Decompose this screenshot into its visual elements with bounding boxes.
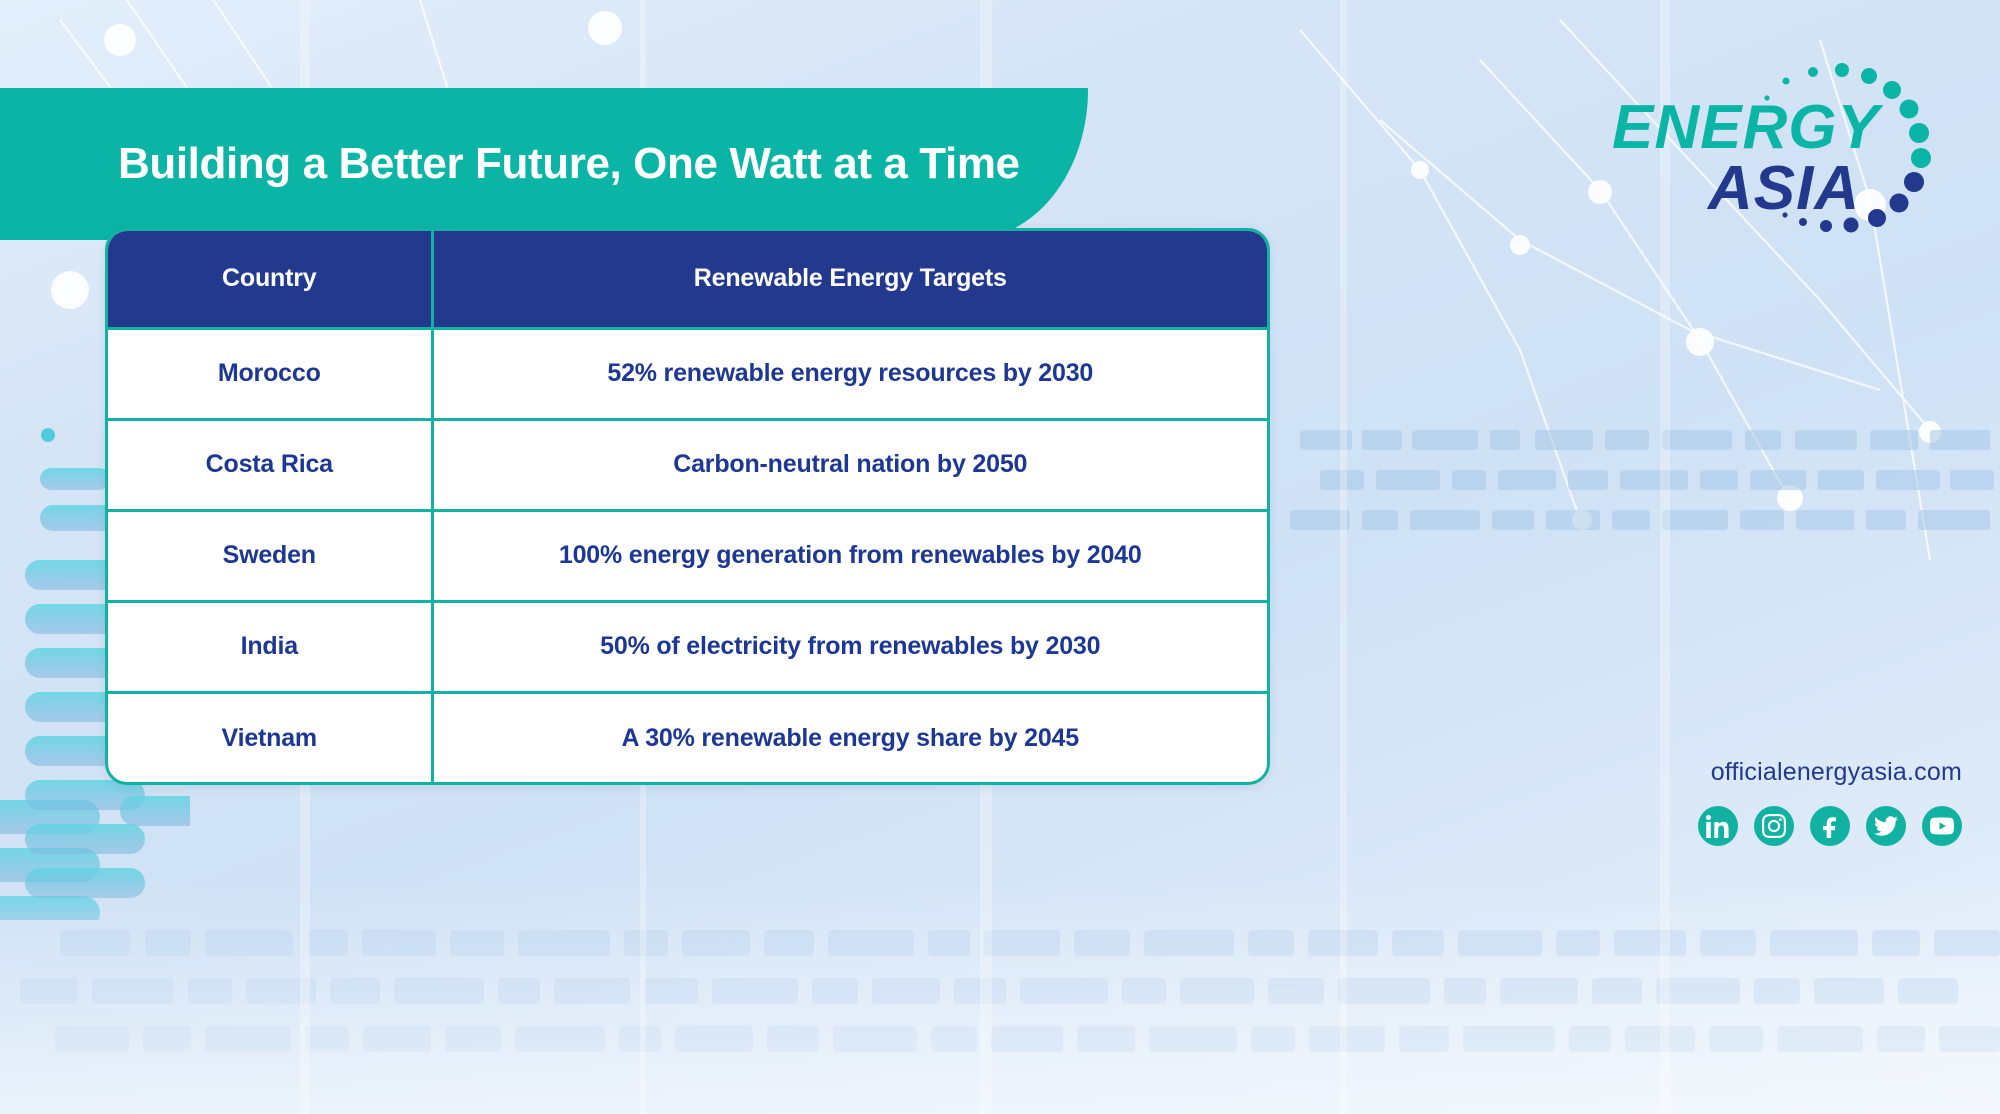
column-header-targets: Renewable Energy Targets [432,231,1267,328]
logo-energy-text: ENERGY [1612,93,1884,162]
table-head: Country Renewable Energy Targets [108,231,1267,328]
table-row: Vietnam A 30% renewable energy share by … [108,692,1267,783]
cell-target: Carbon-neutral nation by 2050 [432,419,1267,510]
cell-country: Vietnam [108,692,432,783]
social-links [1698,806,1962,846]
cell-country: Sweden [108,510,432,601]
header-banner-inner: Building a Better Future, One Watt at a … [0,88,1088,240]
table-row: India 50% of electricity from renewables… [108,601,1267,692]
column-header-country: Country [108,231,432,328]
cell-target: A 30% renewable energy share by 2045 [432,692,1267,783]
page-title: Building a Better Future, One Watt at a … [118,139,1020,189]
linkedin-icon[interactable] [1698,806,1738,846]
cell-country: India [108,601,432,692]
twitter-icon[interactable] [1866,806,1906,846]
header-banner: Building a Better Future, One Watt at a … [0,88,1088,240]
table-body: Morocco 52% renewable energy resources b… [108,328,1267,783]
cell-target: 100% energy generation from renewables b… [432,510,1267,601]
instagram-icon[interactable] [1754,806,1794,846]
logo-svg: ENERGY ASIA [1560,48,1960,238]
renewable-targets-table: Country Renewable Energy Targets Morocco… [108,231,1267,783]
table-row: Morocco 52% renewable energy resources b… [108,328,1267,419]
cell-country: Morocco [108,328,432,419]
cell-country: Costa Rica [108,419,432,510]
facebook-icon[interactable] [1810,806,1850,846]
table-row: Costa Rica Carbon-neutral nation by 2050 [108,419,1267,510]
table-row: Sweden 100% energy generation from renew… [108,510,1267,601]
energy-asia-logo: ENERGY ASIA [1560,48,1960,238]
logo-asia-text: ASIA [1706,154,1860,223]
website-url[interactable]: officialenergyasia.com [1711,758,1962,787]
cell-target: 50% of electricity from renewables by 20… [432,601,1267,692]
youtube-icon[interactable] [1922,806,1962,846]
table-header-row: Country Renewable Energy Targets [108,231,1267,328]
cell-target: 52% renewable energy resources by 2030 [432,328,1267,419]
targets-table-card: Country Renewable Energy Targets Morocco… [105,228,1270,785]
